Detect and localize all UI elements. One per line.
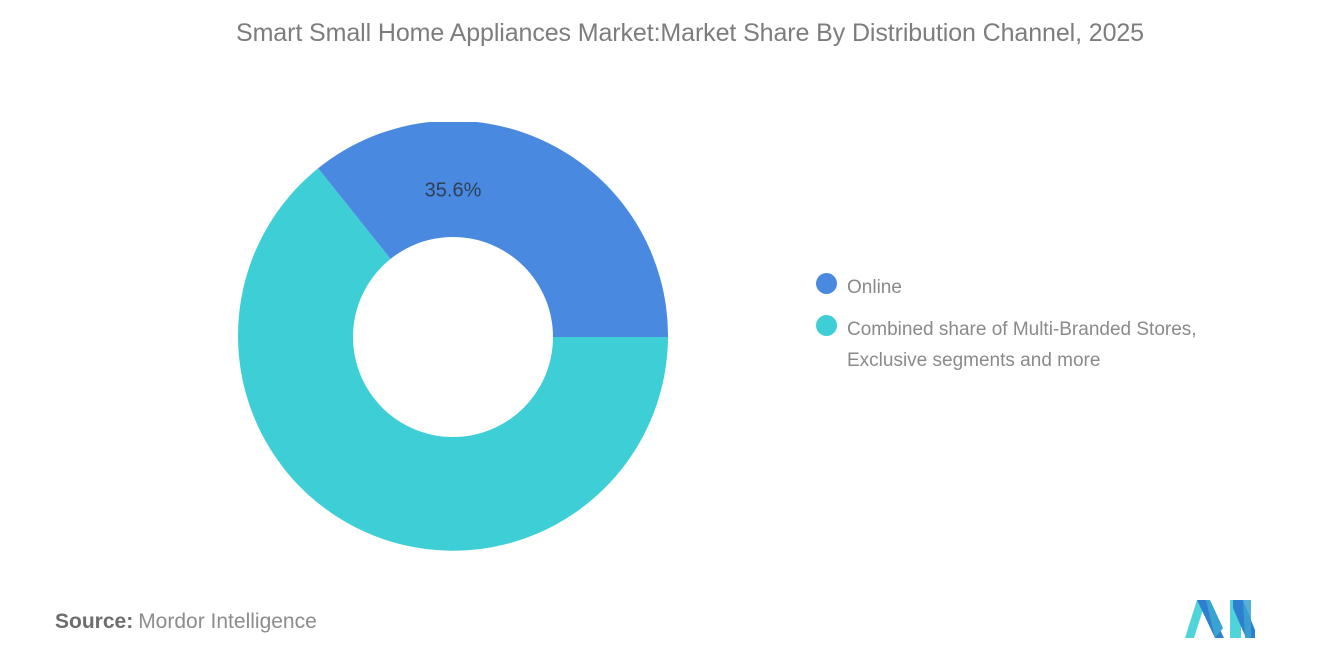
source-label: Source: (55, 610, 133, 633)
donut-chart: 35.6% (238, 122, 668, 552)
chart-legend: Online Combined share of Multi-Branded S… (816, 272, 1296, 387)
legend-label-online: Online (847, 272, 902, 303)
legend-swatch-online (816, 273, 837, 294)
legend-swatch-combined-share (816, 315, 837, 336)
legend-item-online[interactable]: Online (816, 272, 1296, 303)
legend-item-combined-share[interactable]: Combined share of Multi-Branded Stores, … (816, 314, 1296, 376)
source-line: Source:Mordor Intelligence (55, 610, 317, 634)
chart-title: Smart Small Home Appliances Market:Marke… (150, 14, 1230, 52)
donut-chart-svg (238, 122, 668, 552)
mordor-intelligence-logo (1183, 596, 1257, 640)
legend-label-combined-share: Combined share of Multi-Branded Stores, … (847, 314, 1267, 376)
donut-hole (353, 237, 553, 437)
source-value: Mordor Intelligence (138, 610, 317, 633)
